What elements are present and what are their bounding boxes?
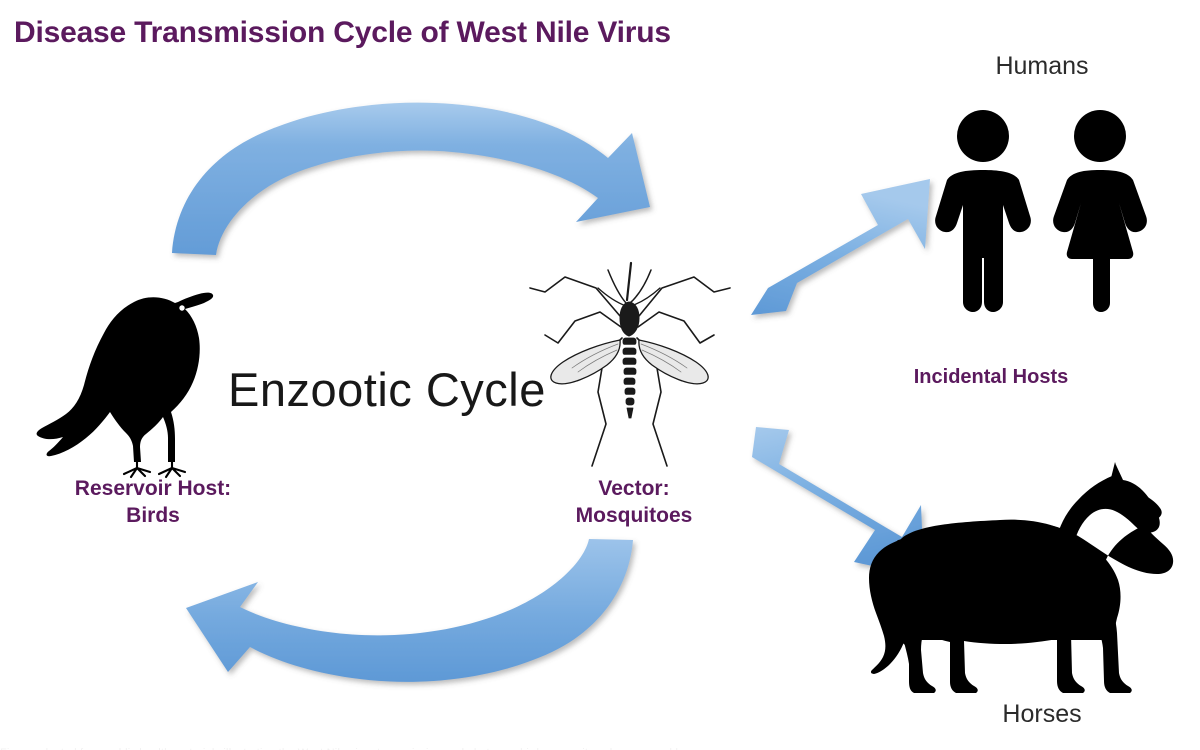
mosquito-lineart-icon xyxy=(530,263,730,466)
vector-line2: Mosquitoes xyxy=(528,503,740,530)
reservoir-host-line1: Reservoir Host: xyxy=(24,476,282,503)
page-title: Disease Transmission Cycle of West Nile … xyxy=(14,16,671,50)
incidental-hosts-label: Incidental Hosts xyxy=(860,365,1122,390)
arrow-mosquito-to-bird xyxy=(186,539,633,682)
horse-silhouette-icon xyxy=(869,462,1173,693)
humans-label: Humans xyxy=(942,52,1142,81)
arrow-bird-to-mosquito xyxy=(172,103,650,255)
arrow-mosquito-to-humans xyxy=(751,179,930,315)
horses-label: Horses xyxy=(942,700,1142,729)
crow-silhouette-icon xyxy=(37,293,214,477)
diagram-canvas: Disease Transmission Cycle of West Nile … xyxy=(0,0,1200,750)
vector-line1: Vector: xyxy=(528,476,740,503)
humans-pictogram-icon xyxy=(935,110,1147,312)
vector-label: Vector: Mosquitoes xyxy=(528,476,740,529)
arrow-mosquito-to-horses xyxy=(752,427,924,577)
reservoir-host-line2: Birds xyxy=(24,503,282,530)
enzootic-cycle-label: Enzootic Cycle xyxy=(228,362,546,417)
reservoir-host-label: Reservoir Host: Birds xyxy=(24,476,282,529)
